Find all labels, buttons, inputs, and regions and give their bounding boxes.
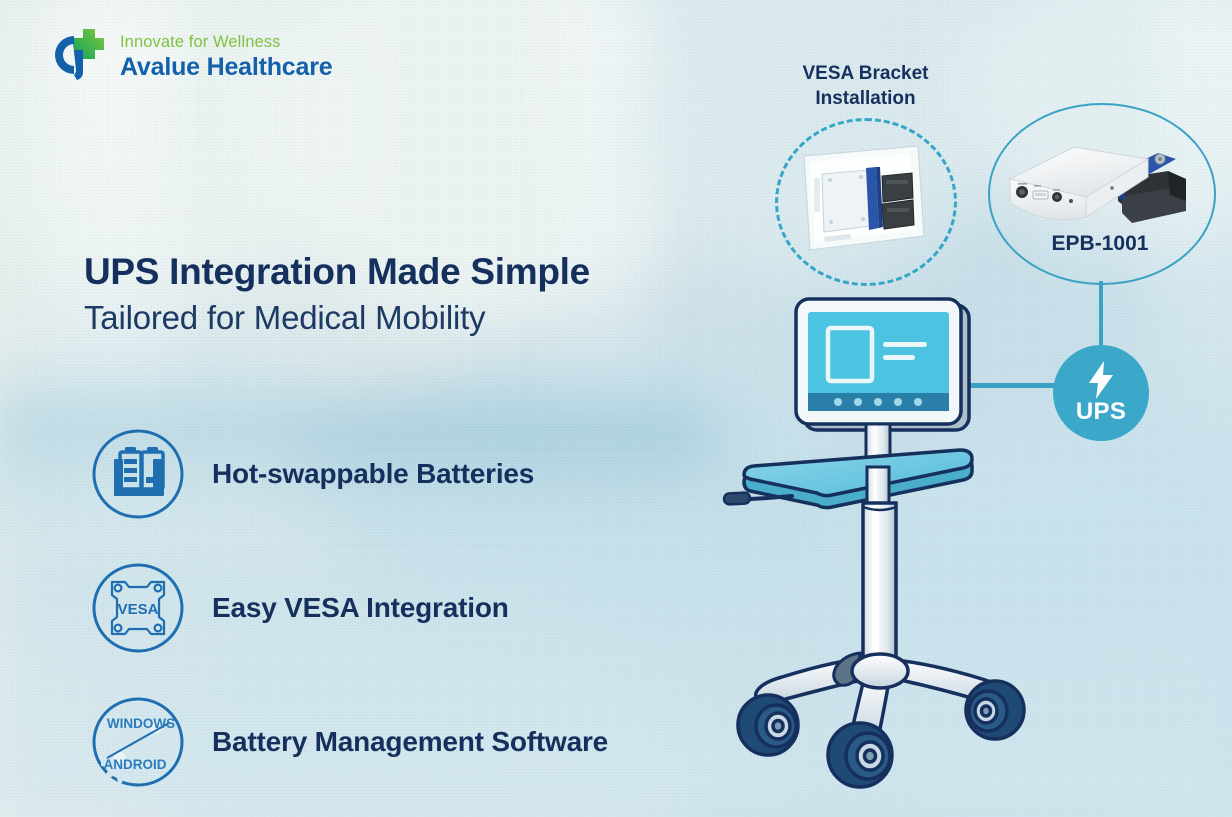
- ups-badge-label: UPS: [1076, 398, 1126, 426]
- infographic-canvas: Innovate for Wellness Avalue Healthcare …: [0, 0, 1232, 817]
- feature-label: Hot-swappable Batteries: [212, 458, 534, 490]
- epb-1001-ups-module-photo: [1000, 135, 1200, 235]
- vesa-bracket-installation-photo: [790, 140, 940, 260]
- brand-tagline: Innovate for Wellness: [120, 34, 332, 51]
- headline-subtitle: Tailored for Medical Mobility: [84, 297, 590, 338]
- headline-block: UPS Integration Made Simple Tailored for…: [84, 252, 590, 338]
- os-icon-text-top: WINDOWS: [107, 716, 175, 731]
- avalue-a-cross-logo-icon: [47, 28, 109, 86]
- medical-mobile-cart-illustration: [720, 285, 1020, 785]
- vesa-caption-line1: VESA Bracket: [802, 63, 928, 84]
- feature-label: Easy VESA Integration: [212, 592, 509, 624]
- feature-item: Hot-swappable Batteries: [92, 428, 608, 520]
- connector-line-vertical: [1099, 281, 1103, 345]
- feature-item: VESA Easy VESA Integration: [92, 562, 608, 654]
- vesa-icon-text: VESA: [118, 601, 159, 618]
- epb-product-label: EPB-1001: [988, 232, 1212, 256]
- os-gears-icon: WINDOWS ANDROID: [92, 696, 184, 788]
- battery-pair-icon: [92, 428, 184, 520]
- lightning-bolt-icon: [1084, 360, 1118, 400]
- headline-title: UPS Integration Made Simple: [84, 252, 590, 293]
- os-icon-text-bottom: ANDROID: [104, 757, 167, 772]
- vesa-callout-caption: VESA Bracket Installation: [763, 62, 968, 111]
- vesa-plate-icon: VESA: [92, 562, 184, 654]
- feature-label: Battery Management Software: [212, 726, 608, 758]
- brand-logo: Innovate for Wellness Avalue Healthcare: [47, 28, 332, 86]
- ups-badge: UPS: [1053, 345, 1149, 441]
- feature-list: Hot-swappable Batteries VESA Easy VESA I…: [92, 428, 608, 817]
- feature-item: WINDOWS ANDROID Battery Management Softw…: [92, 696, 608, 788]
- vesa-caption-line2: Installation: [815, 88, 915, 109]
- brand-name: Avalue Healthcare: [120, 55, 332, 80]
